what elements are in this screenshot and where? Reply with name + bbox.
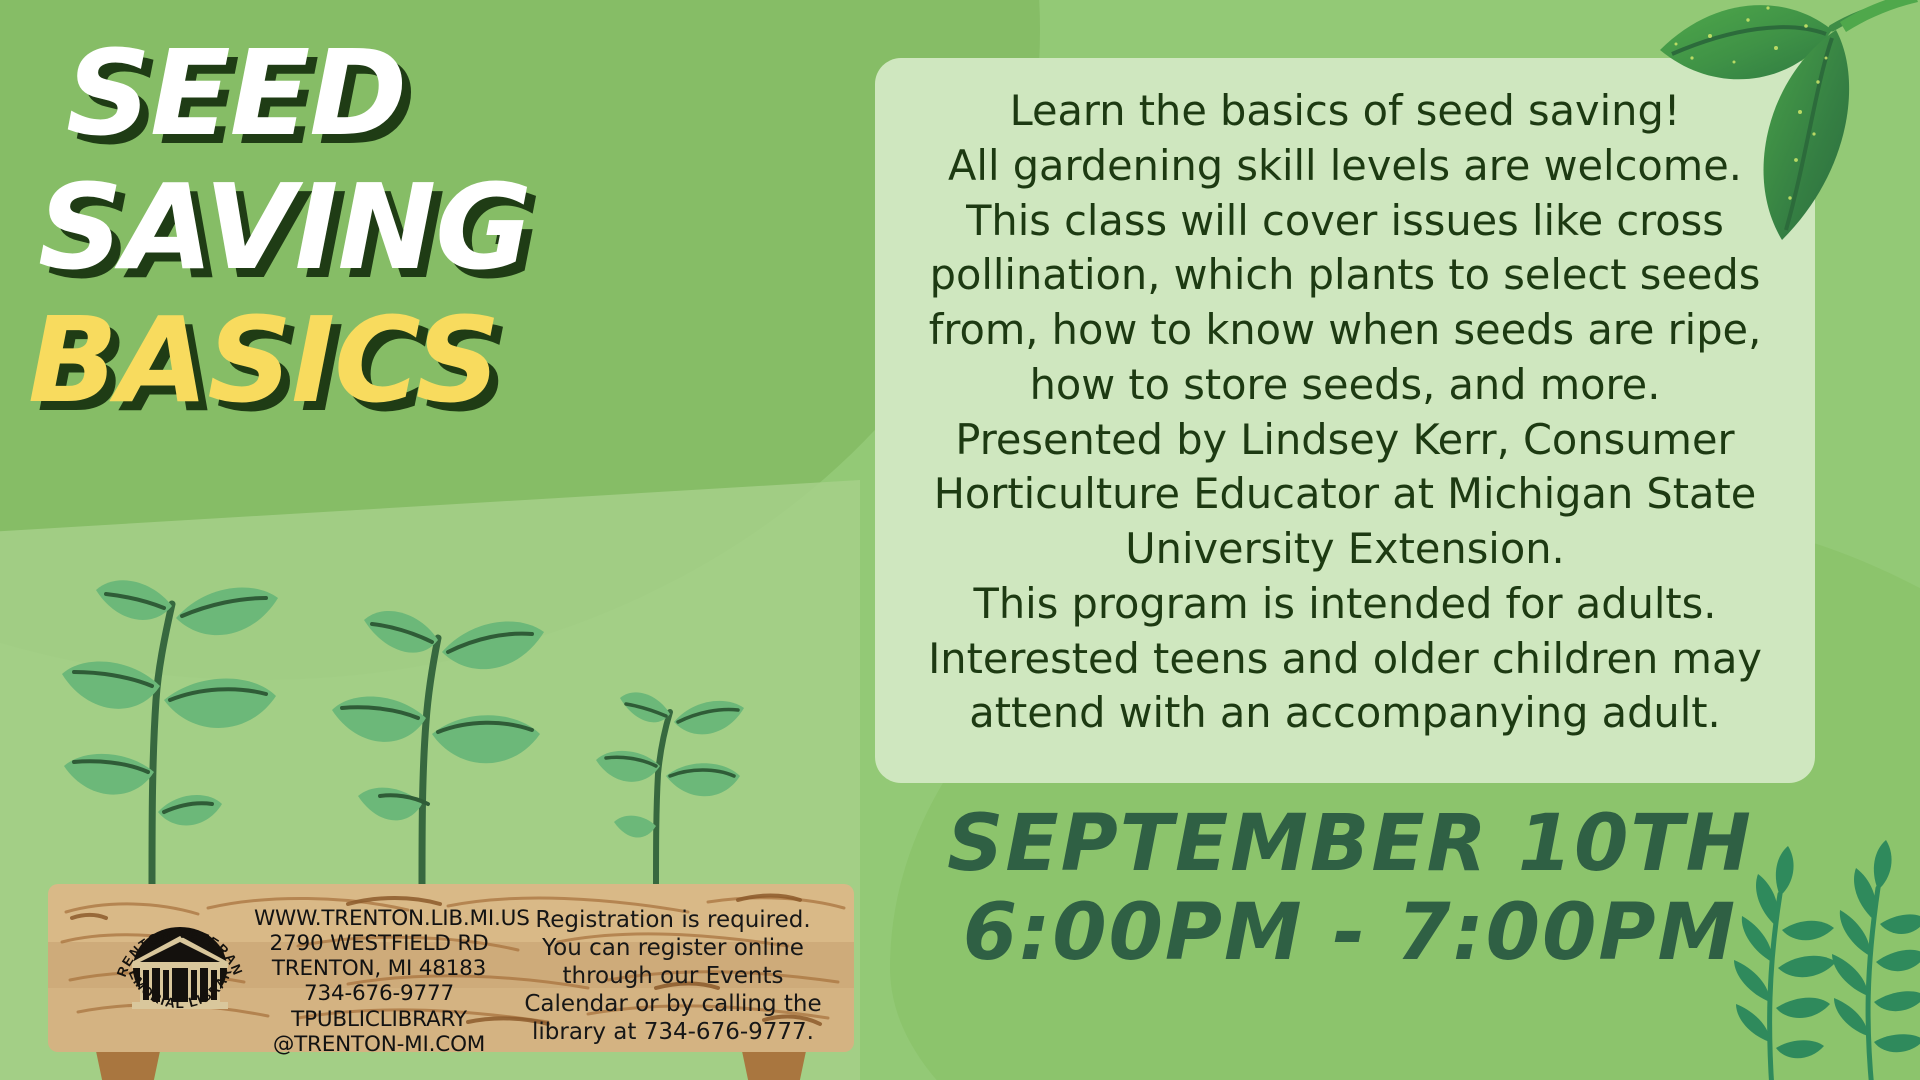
body-line-9: University Extension. [897, 522, 1793, 577]
library-logo: TRENTON VETERANS MEMORIAL LIBRARY [110, 906, 250, 1030]
leaf-decoration-top-right [1600, 0, 1920, 257]
body-line-12: attend with an accompanying adult. [897, 686, 1793, 741]
registration-info: Registration is required. You can regist… [518, 906, 828, 1046]
library-city: TRENTON, MI 48183 [254, 956, 504, 981]
body-line-5: from, how to know when seeds are ripe, [897, 303, 1793, 358]
body-line-6: how to store seeds, and more. [897, 358, 1793, 413]
library-email-1: TPUBLICLIBRARY [254, 1007, 504, 1032]
planter-sign: TRENTON VETERANS MEMORIAL LIBRARY WWW.TR… [48, 884, 854, 1080]
poster-title: SEED SAVING BASICS [28, 36, 728, 419]
library-phone: 734-676-9777 [254, 981, 504, 1006]
plant-sprouts-illustration [40, 560, 800, 890]
registration-text: Registration is required. You can regist… [518, 906, 828, 1046]
library-logo-svg: TRENTON VETERANS MEMORIAL LIBRARY [110, 906, 250, 1030]
event-datetime: SEPTEMBER 10TH 6:00PM - 7:00PM [880, 800, 1820, 978]
event-date: SEPTEMBER 10TH [880, 800, 1820, 889]
body-line-8: Horticulture Educator at Michigan State [897, 467, 1793, 522]
title-line-basics: BASICS [28, 303, 728, 419]
body-line-11: Interested teens and older children may [897, 632, 1793, 687]
library-email-2: @TRENTON-MI.COM [254, 1032, 504, 1057]
body-line-7: Presented by Lindsey Kerr, Consumer [897, 413, 1793, 468]
library-website: WWW.TRENTON.LIB.MI.US [254, 906, 504, 931]
title-line-saving: SAVING [38, 170, 728, 286]
leaf-top-right-svg [1600, 0, 1920, 257]
library-contact-info: WWW.TRENTON.LIB.MI.US 2790 WESTFIELD RD … [254, 906, 504, 1057]
library-street: 2790 WESTFIELD RD [254, 931, 504, 956]
body-line-10: This program is intended for adults. [897, 577, 1793, 632]
event-time: 6:00PM - 7:00PM [880, 889, 1820, 978]
sprouts-svg [40, 560, 800, 890]
title-line-seed: SEED [66, 36, 728, 152]
